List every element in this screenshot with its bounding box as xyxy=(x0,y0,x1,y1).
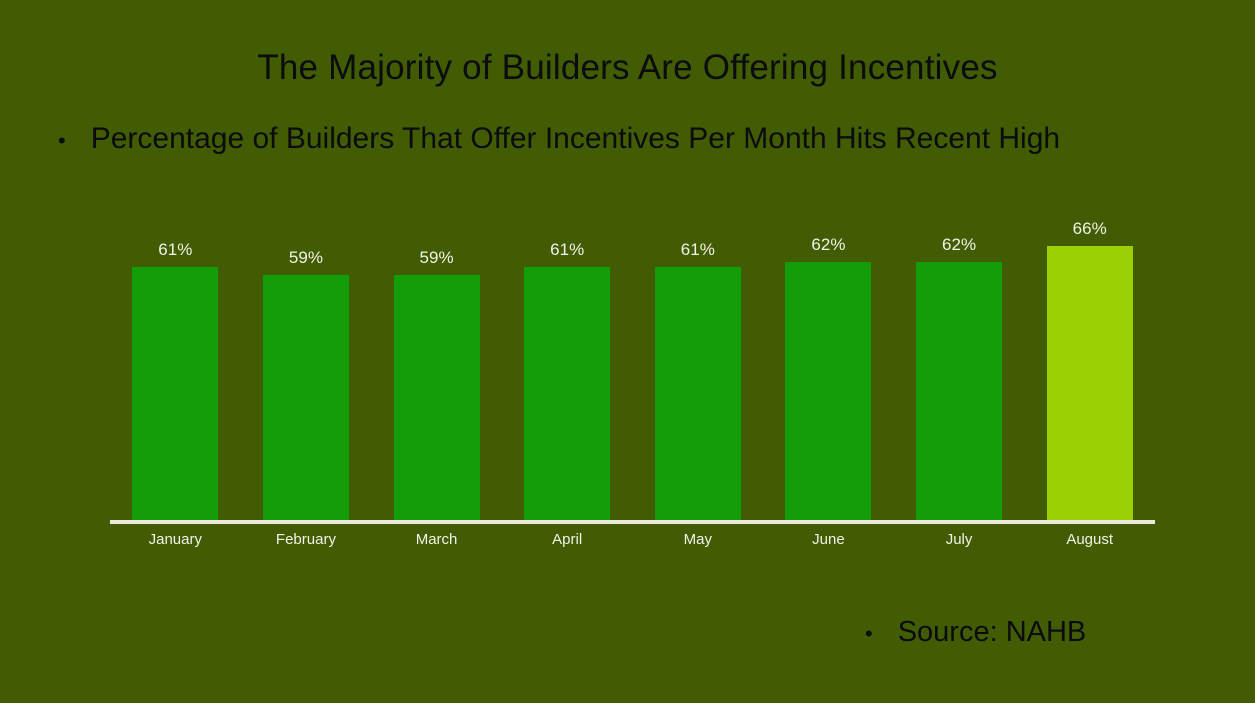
x-axis-tick-label: May xyxy=(684,530,712,550)
bar-slot: 61% xyxy=(502,200,633,520)
x-axis-tick-label: July xyxy=(946,530,973,550)
subtitle-text: Percentage of Builders That Offer Incent… xyxy=(91,119,1060,159)
bar-value-label: 62% xyxy=(942,235,976,255)
chart-bar[interactable]: 61% xyxy=(524,267,610,521)
slide-canvas: The Majority of Builders Are Offering In… xyxy=(0,0,1255,703)
bar-value-label: 59% xyxy=(420,248,454,268)
bar-slot: 62% xyxy=(763,200,894,520)
bar-slot: 59% xyxy=(241,200,372,520)
bar-chart: 61%59%59%61%61%62%62%66% JanuaryFebruary… xyxy=(110,200,1155,525)
bar-slot: 61% xyxy=(110,200,241,520)
x-axis-tick-label: June xyxy=(812,530,845,550)
bar-value-label: 59% xyxy=(289,248,323,268)
chart-bar[interactable]: 66% xyxy=(1047,246,1133,520)
x-axis-tick-label: February xyxy=(276,530,336,550)
x-axis-tick-label: April xyxy=(552,530,582,550)
x-axis-tick-label: August xyxy=(1066,530,1113,550)
chart-plot-area: 61%59%59%61%61%62%62%66% xyxy=(110,200,1155,520)
chart-bar[interactable]: 59% xyxy=(263,275,349,520)
chart-bar[interactable]: 62% xyxy=(785,262,871,520)
bullet-icon: • xyxy=(865,623,873,645)
bar-value-label: 62% xyxy=(811,235,845,255)
chart-bar[interactable]: 62% xyxy=(916,262,1002,520)
bar-slot: 59% xyxy=(371,200,502,520)
subtitle-row: • Percentage of Builders That Offer Ince… xyxy=(58,119,1188,159)
bar-value-label: 61% xyxy=(158,240,192,260)
source-text: Source: NAHB xyxy=(898,613,1087,651)
bar-slot: 61% xyxy=(633,200,764,520)
bar-value-label: 66% xyxy=(1073,219,1107,239)
page-title: The Majority of Builders Are Offering In… xyxy=(0,46,1255,90)
chart-bar[interactable]: 59% xyxy=(394,275,480,520)
x-axis-line xyxy=(110,520,1155,524)
x-axis-tick-label: January xyxy=(149,530,202,550)
bar-value-label: 61% xyxy=(550,240,584,260)
source-row: • Source: NAHB xyxy=(865,613,1086,651)
chart-bar[interactable]: 61% xyxy=(132,267,218,521)
bullet-icon: • xyxy=(58,130,66,152)
x-axis-tick-label: March xyxy=(416,530,458,550)
chart-bar[interactable]: 61% xyxy=(655,267,741,521)
bar-slot: 66% xyxy=(1024,200,1155,520)
bar-value-label: 61% xyxy=(681,240,715,260)
bar-slot: 62% xyxy=(894,200,1025,520)
